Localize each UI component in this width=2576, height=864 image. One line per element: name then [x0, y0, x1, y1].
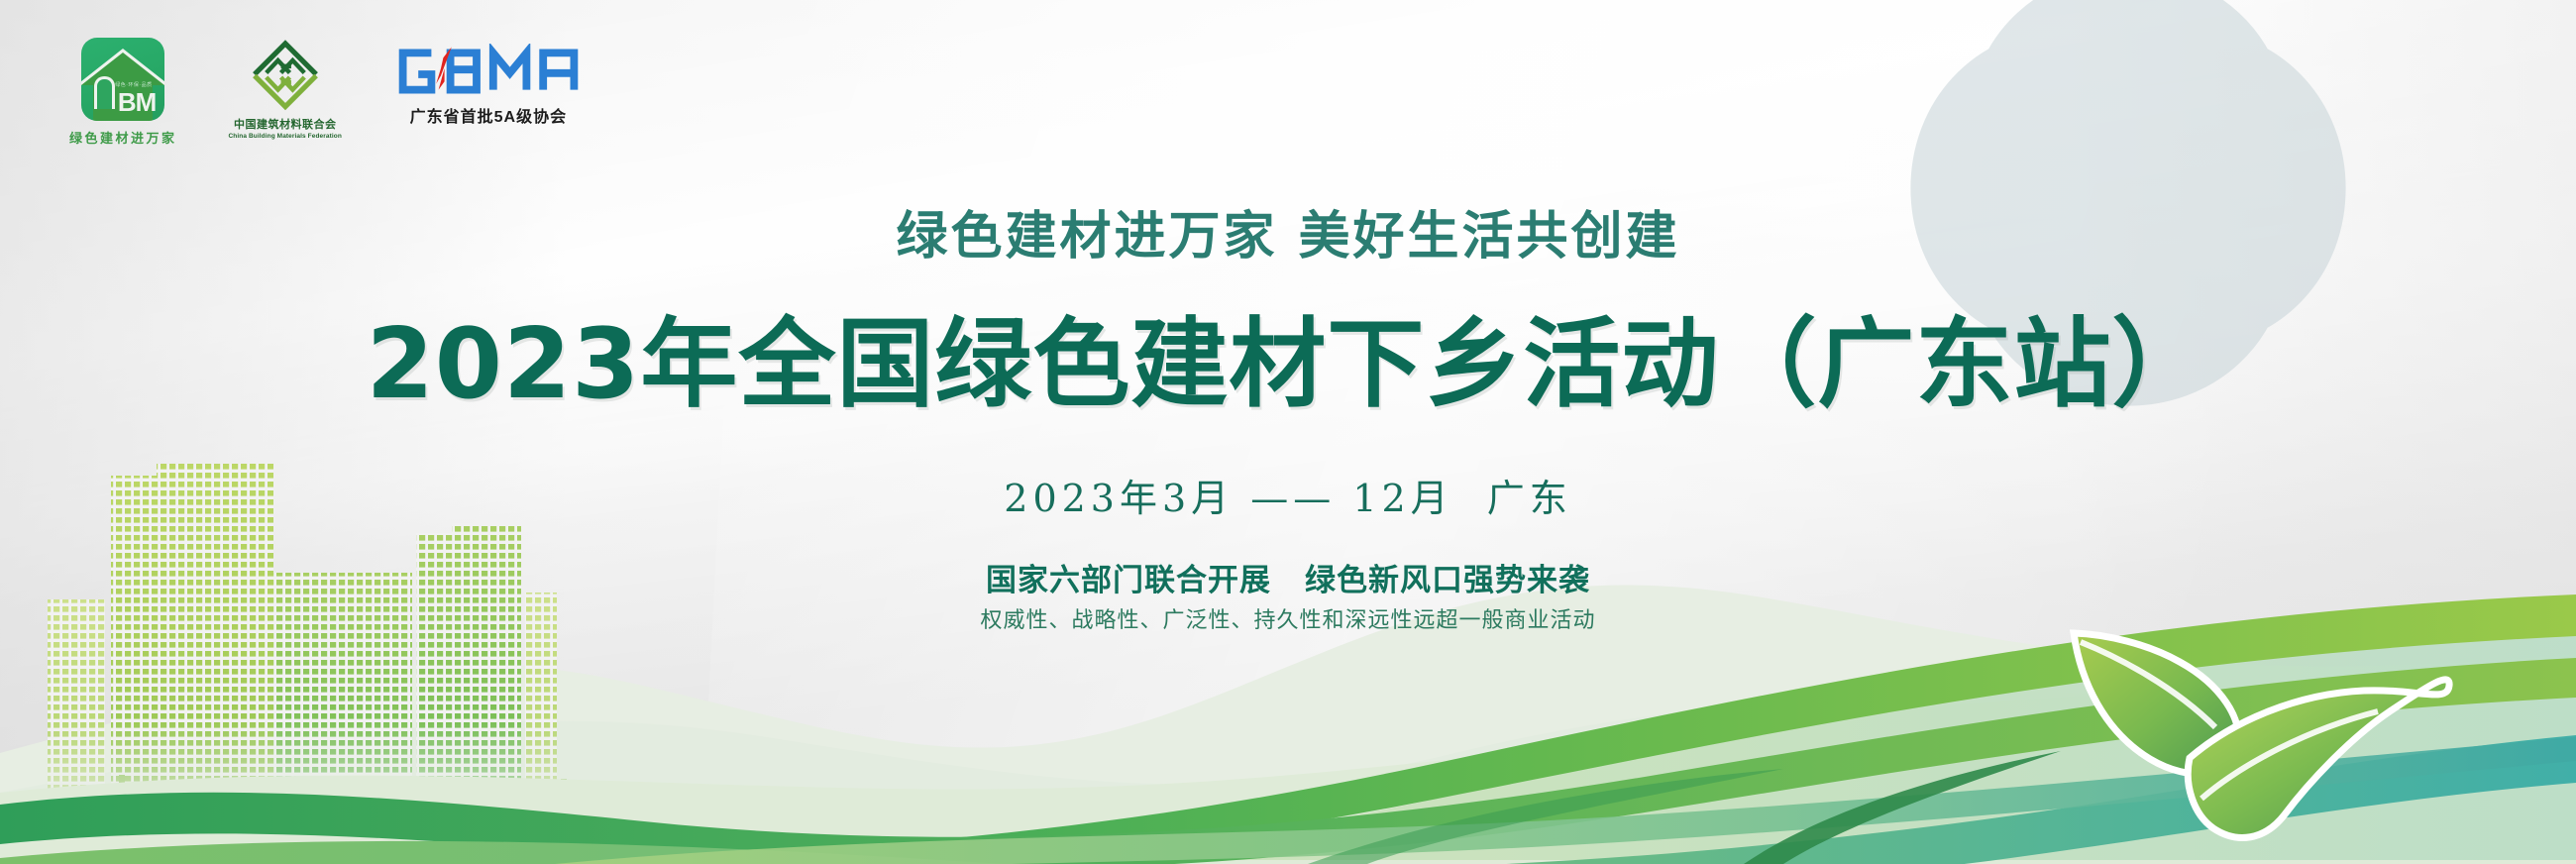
- logo-cbmf[interactable]: 中国建筑材料联合会 China Building Materials Feder…: [229, 38, 342, 140]
- tagline-part-2: 绿色新风口强势来袭: [1305, 563, 1590, 598]
- tagline-part-1: 国家六部门联合开展: [986, 563, 1271, 598]
- partner-logo-row: 绿色·环保·品质 BM 绿色建材进万家: [69, 38, 584, 147]
- logo-gbma[interactable]: 广东省首批5A级协会: [393, 44, 584, 127]
- gbma-wordmark-icon: [393, 44, 584, 99]
- event-tagline: 国家六部门联合开展绿色新风口强势来袭: [0, 555, 2576, 599]
- green-home-icon: 绿色·环保·品质 BM: [81, 38, 164, 121]
- event-tagline-sub: 权威性、战略性、广泛性、持久性和深远性远超一般商业活动: [0, 602, 2576, 634]
- event-region: 广东: [1487, 477, 1572, 520]
- event-date: 2023年3月 —— 12月: [1004, 477, 1452, 520]
- logo1-letters: BM: [118, 87, 156, 118]
- event-date-region: 2023年3月 —— 12月广东: [0, 468, 2576, 522]
- event-title: 2023年全国绿色建材下乡活动（广东站）: [0, 285, 2576, 426]
- logo-green-building-materials[interactable]: 绿色·环保·品质 BM 绿色建材进万家: [69, 38, 177, 147]
- event-subtitle: 绿色建材进万家 美好生活共创建: [0, 194, 2576, 269]
- logo1-caption: 绿色建材进万家: [69, 128, 177, 147]
- gbma-caption: 广东省首批5A级协会: [410, 103, 567, 127]
- cbmf-diamond-icon: [249, 38, 322, 111]
- event-banner: 绿色·环保·品质 BM 绿色建材进万家: [0, 0, 2576, 864]
- cbmf-caption-cn: 中国建筑材料联合会: [234, 116, 337, 132]
- cbmf-caption-en: China Building Materials Federation: [229, 133, 342, 140]
